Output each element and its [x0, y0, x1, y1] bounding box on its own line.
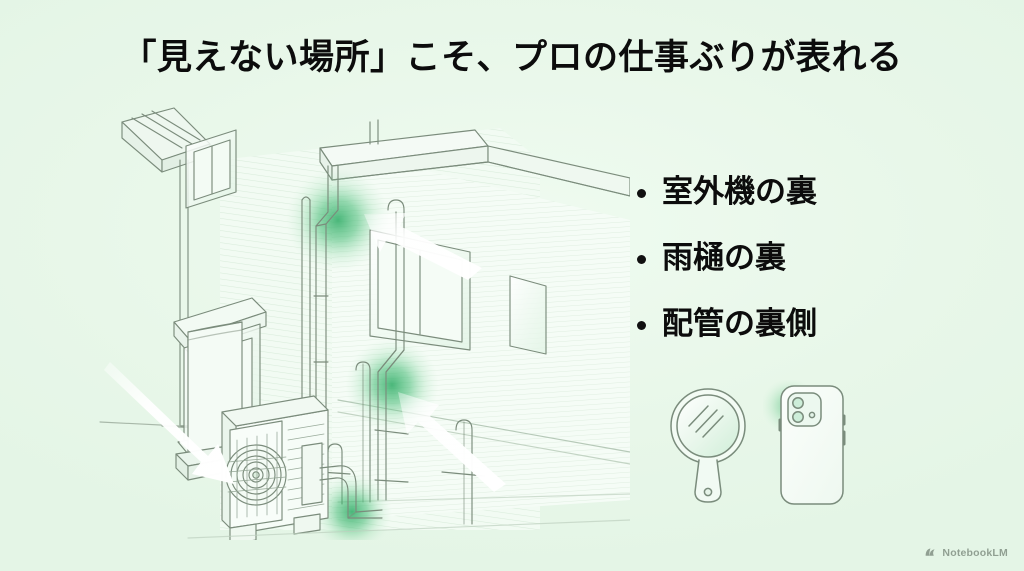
list-item: 雨樋の裏: [637, 238, 967, 278]
bullet-dot-icon: [637, 255, 646, 264]
watermark-label: NotebookLM: [942, 547, 1008, 559]
bullet-dot-icon: [637, 189, 646, 198]
slide-canvas: 「見えない場所」こそ、プロの仕事ぶりが表れる: [0, 0, 1024, 571]
list-item-label: 室外機の裏: [662, 172, 817, 212]
watermark: NotebookLM: [924, 546, 1008, 559]
list-item-label: 雨樋の裏: [662, 238, 786, 278]
page-title: 「見えない場所」こそ、プロの仕事ぶりが表れる: [0, 36, 1024, 80]
list-item: 室外機の裏: [637, 172, 967, 212]
key-points-list: 室外機の裏 雨樋の裏 配管の裏側: [637, 172, 967, 370]
house-illustration: [70, 100, 630, 540]
list-item: 配管の裏側: [637, 304, 967, 344]
bullet-dot-icon: [637, 321, 646, 330]
notebooklm-icon: [924, 546, 937, 559]
house-exterior-line-drawing: [70, 100, 630, 540]
smartphone-back-icon: [763, 380, 863, 510]
tool-icons-row: [663, 380, 863, 510]
hand-mirror-icon: [663, 384, 753, 510]
list-item-label: 配管の裏側: [662, 304, 817, 344]
